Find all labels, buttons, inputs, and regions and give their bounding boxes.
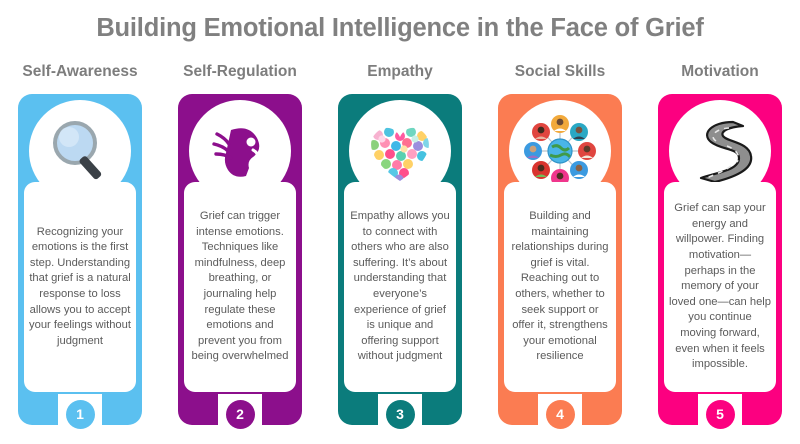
column-self-regulation: Self-Regulation Grief can trigger intens…	[160, 60, 320, 444]
badge-container: 5	[698, 394, 742, 434]
badge-container: 1	[58, 394, 102, 434]
column-motivation: Motivation Grief can sap your energy and…	[640, 60, 800, 444]
description-text: Empathy allows you to connect with other…	[349, 209, 451, 365]
column-header: Social Skills	[480, 63, 640, 81]
step-number-badge: 3	[386, 400, 415, 429]
description-panel: Grief can sap your energy and willpower.…	[664, 182, 776, 392]
description-panel: Grief can trigger intense emotions. Tech…	[184, 182, 296, 392]
step-number-badge: 4	[546, 400, 575, 429]
description-text: Grief can sap your energy and willpower.…	[669, 201, 771, 373]
description-panel: Empathy allows you to connect with other…	[344, 182, 456, 392]
infographic-root: Building Emotional Intelligence in the F…	[0, 0, 800, 444]
page-title: Building Emotional Intelligence in the F…	[0, 14, 800, 43]
badge-container: 3	[378, 394, 422, 434]
card-motivation[interactable]: Grief can sap your energy and willpower.…	[658, 94, 782, 425]
step-number-badge: 1	[66, 400, 95, 429]
card-self-awareness[interactable]: Recognizing your emotions is the first s…	[18, 94, 142, 425]
column-self-awareness: Self-Awareness Recognizing your emotions…	[0, 60, 160, 444]
step-number-badge: 5	[706, 400, 735, 429]
column-header: Self-Awareness	[0, 63, 160, 81]
card-social-skills[interactable]: Building and maintaining relationships d…	[498, 94, 622, 425]
column-header: Empathy	[320, 63, 480, 81]
column-header: Motivation	[640, 63, 800, 81]
description-text: Building and maintaining relationships d…	[509, 209, 611, 365]
column-empathy: Empathy	[320, 60, 480, 444]
step-number-badge: 2	[226, 400, 255, 429]
card-self-regulation[interactable]: Grief can trigger intense emotions. Tech…	[178, 94, 302, 425]
description-text: Recognizing your emotions is the first s…	[29, 225, 131, 350]
badge-container: 4	[538, 394, 582, 434]
description-panel: Building and maintaining relationships d…	[504, 182, 616, 392]
column-header: Self-Regulation	[160, 63, 320, 81]
columns-container: Self-Awareness Recognizing your emotions…	[0, 60, 800, 444]
card-empathy[interactable]: Empathy allows you to connect with other…	[338, 94, 462, 425]
badge-container: 2	[218, 394, 262, 434]
column-social-skills: Social Skills	[480, 60, 640, 444]
description-panel: Recognizing your emotions is the first s…	[24, 182, 136, 392]
description-text: Grief can trigger intense emotions. Tech…	[189, 209, 291, 365]
